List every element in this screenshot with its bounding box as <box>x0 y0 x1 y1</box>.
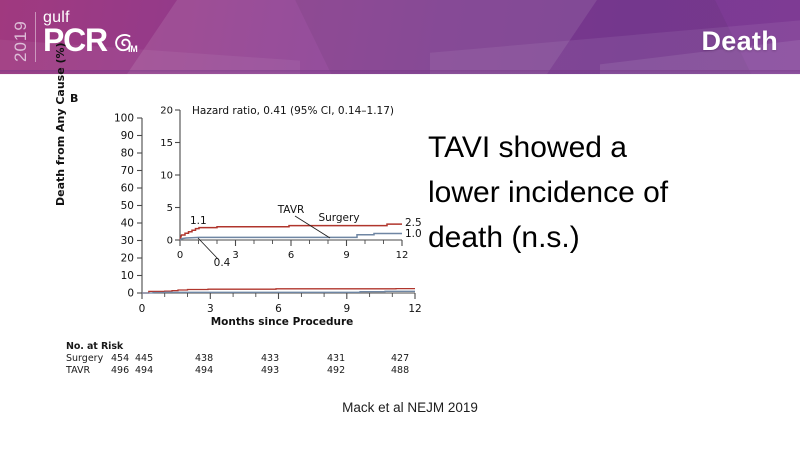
risk-row-label: TAVR <box>66 365 111 377</box>
svg-text:6: 6 <box>275 303 282 315</box>
callout-text: TAVI showed a lower incidence of death (… <box>428 125 773 260</box>
logo-divider <box>35 12 36 62</box>
inset-label-surgery: Surgery <box>318 212 359 224</box>
inset-label-1-1: 1.1 <box>190 215 207 227</box>
svg-text:5: 5 <box>167 203 173 214</box>
page-title: Death <box>701 26 778 57</box>
svg-text:10: 10 <box>121 270 134 282</box>
svg-text:9: 9 <box>343 303 350 315</box>
risk-row-label: Surgery <box>66 353 111 365</box>
svg-text:0: 0 <box>139 303 146 315</box>
risk-cell: 488 <box>391 365 409 377</box>
svg-text:3: 3 <box>207 303 214 315</box>
risk-cell: 427 <box>391 353 409 365</box>
inset-x-ticks <box>180 240 402 246</box>
risk-cell: 493 <box>261 365 327 377</box>
svg-text:0: 0 <box>167 236 173 247</box>
inset-label-1-0: 1.0 <box>405 228 422 240</box>
logo-pcr-text: PCR <box>43 25 107 55</box>
main-y-ticks <box>137 118 142 293</box>
risk-cell: 494 <box>195 365 261 377</box>
risk-cell: 445 <box>135 353 195 365</box>
main-x-ticks <box>142 293 415 299</box>
svg-text:20: 20 <box>160 106 173 117</box>
risk-cell: 454 <box>111 353 135 365</box>
svg-text:9: 9 <box>343 250 349 261</box>
main-x-tick-labels: 0 3 6 9 12 <box>139 303 422 315</box>
header-facet-2 <box>256 0 764 74</box>
inset-y-tick-labels: 20 15 10 5 0 <box>160 106 173 247</box>
leader-line-0-4 <box>198 238 218 259</box>
header-facet-1 <box>96 0 624 74</box>
svg-text:40: 40 <box>121 218 134 230</box>
svg-text:12: 12 <box>396 250 409 261</box>
svg-text:60: 60 <box>121 183 134 195</box>
svg-text:50: 50 <box>121 200 134 212</box>
slide: 2019 gulf PCR iM Death B Death from Any <box>0 0 800 450</box>
inset-label-tavr: TAVR <box>277 204 305 216</box>
hazard-ratio-annotation: Hazard ratio, 0.41 (95% CI, 0.14–1.17) <box>192 105 394 117</box>
header-shadow <box>0 70 800 75</box>
svg-text:20: 20 <box>121 253 134 265</box>
source-credit: Mack et al NEJM 2019 <box>0 400 800 415</box>
table-row: TAVR 496 494 494 493 492 488 <box>66 365 409 377</box>
risk-cell: 433 <box>261 353 327 365</box>
slide-header: 2019 gulf PCR iM Death <box>0 0 800 74</box>
risk-cell: 431 <box>327 353 391 365</box>
logo-year: 2019 <box>12 8 29 62</box>
svg-text:12: 12 <box>408 303 421 315</box>
svg-text:90: 90 <box>121 130 134 142</box>
callout-line-3: death (n.s.) <box>428 215 773 260</box>
gulf-pcr-logo: 2019 gulf PCR iM <box>12 8 138 66</box>
svg-text:0: 0 <box>127 288 134 300</box>
svg-text:30: 30 <box>121 235 134 247</box>
svg-text:15: 15 <box>160 138 173 149</box>
inset-curve-tavr <box>180 234 402 241</box>
inset-label-0-4: 0.4 <box>214 257 231 269</box>
table-row: Surgery 454 445 438 433 431 427 <box>66 353 409 365</box>
inset-y-ticks <box>175 110 180 240</box>
main-y-tick-labels: 100 90 80 70 60 50 40 30 20 10 0 <box>114 113 134 300</box>
source-credit-text: Mack et al NEJM 2019 <box>342 400 478 415</box>
svg-text:80: 80 <box>121 148 134 160</box>
svg-text:6: 6 <box>288 250 294 261</box>
no-at-risk-table: No. at Risk Surgery 454 445 438 433 431 … <box>66 341 409 377</box>
svg-text:3: 3 <box>232 250 238 261</box>
heart-loop-icon <box>112 32 134 54</box>
callout-line-2: lower incidence of <box>428 170 773 215</box>
svg-text:10: 10 <box>160 171 173 182</box>
callout-line-1: TAVI showed a <box>428 125 773 170</box>
risk-cell: 496 <box>111 365 135 377</box>
no-at-risk-title: No. at Risk <box>66 341 409 352</box>
svg-text:0: 0 <box>177 250 183 261</box>
risk-cell: 492 <box>327 365 391 377</box>
svg-text:100: 100 <box>114 113 134 125</box>
risk-cell: 438 <box>195 353 261 365</box>
svg-text:70: 70 <box>121 165 134 177</box>
risk-cell: 494 <box>135 365 195 377</box>
